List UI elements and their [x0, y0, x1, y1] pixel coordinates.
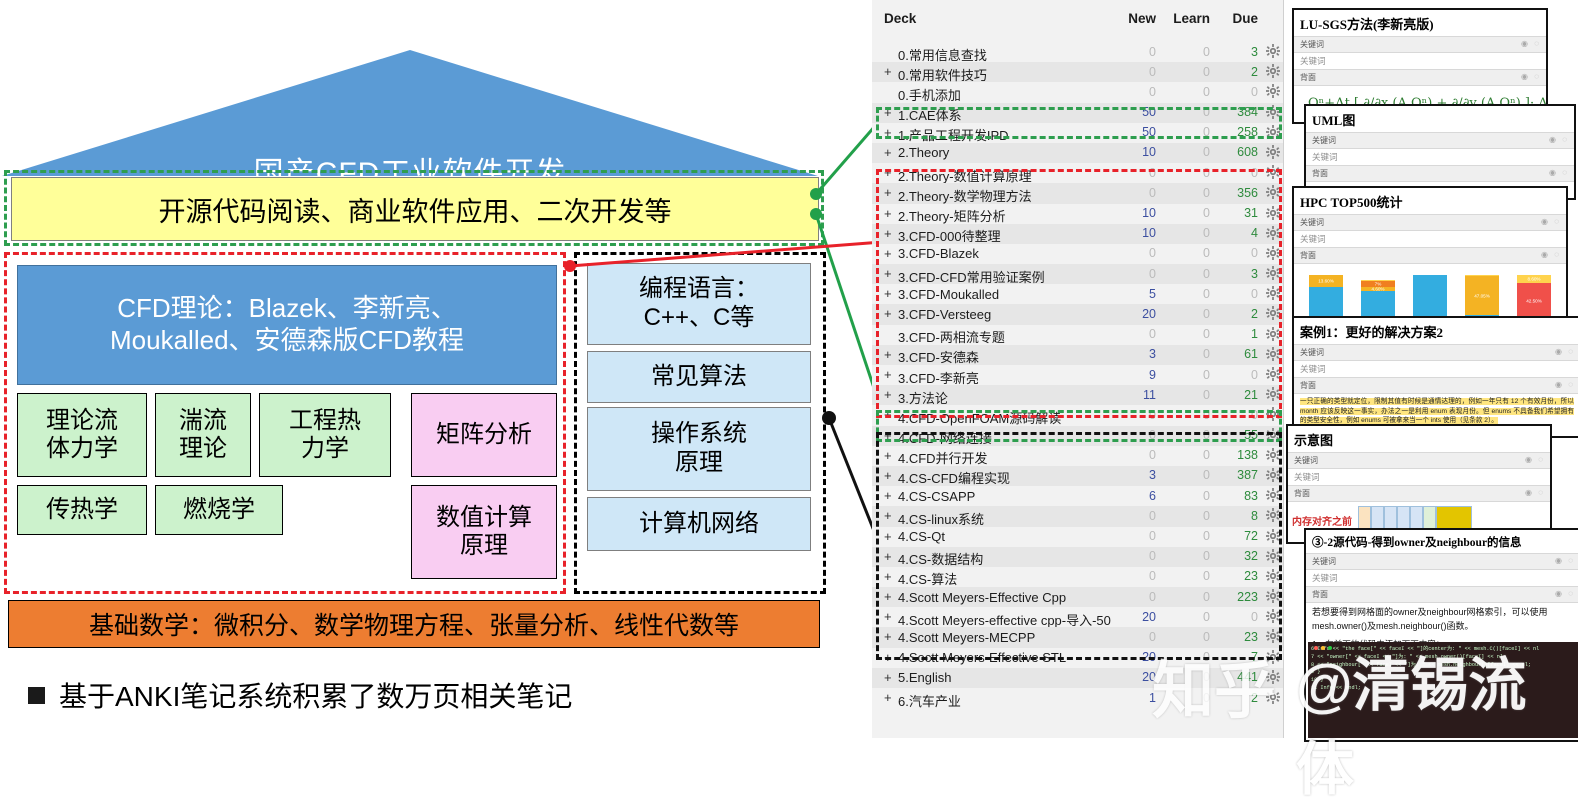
gear-icon[interactable] — [1266, 44, 1280, 58]
deck-row[interactable]: +3.CFD-CFD常用验证案例003 — [872, 264, 1284, 284]
eye-icon[interactable]: ◉ ◌ — [1555, 556, 1575, 565]
deck-row[interactable]: +4.CS-CFD编程实现30387 — [872, 466, 1284, 486]
deck-row[interactable]: +1.产品工程开发IPD500258 — [872, 123, 1284, 143]
deck-expander[interactable]: + — [884, 226, 894, 241]
window-dots-icon — [1314, 646, 1335, 654]
deck-new-count: 0 — [1112, 509, 1156, 523]
card-field-value: 关键词 — [1294, 361, 1578, 377]
note-card-case1[interactable]: 案例1：更好的解决方案2 关键词 ◉ ◌ 关键词 背面 ◉ ◌ 一只正确的类型就… — [1292, 316, 1578, 438]
programming-label: 编程语言：C++、C等 — [639, 275, 759, 333]
deck-learn-count: 0 — [1160, 569, 1210, 583]
deck-expander[interactable]: + — [884, 246, 894, 261]
gear-icon[interactable] — [1266, 529, 1280, 543]
deck-expander[interactable]: + — [884, 629, 894, 644]
deck-new-count: 0 — [1112, 327, 1156, 341]
subject-box-heat-transfer: 传热学 — [17, 485, 147, 535]
deck-row[interactable]: +4.Soctt Meyers-Effective STL2007 — [872, 648, 1284, 668]
deck-learn-count: 0 — [1160, 307, 1210, 321]
card-paragraph-text: 若想要得到网格面的owner及neighbour网格索引，可以使用mesh.ow… — [1312, 606, 1574, 633]
column-header-learn[interactable]: Learn — [1160, 11, 1210, 26]
gear-icon[interactable] — [1266, 387, 1280, 401]
deck-row[interactable]: +3.方法论11021 — [872, 385, 1284, 405]
deck-name[interactable]: 3.CFD-Moukalled — [898, 287, 999, 302]
deck-expander[interactable]: + — [884, 125, 894, 140]
deck-new-count: 10 — [1112, 145, 1156, 159]
deck-row[interactable]: +4.CFD-OpenFOAM源码解读000 — [872, 405, 1284, 425]
gear-icon[interactable] — [1266, 327, 1280, 341]
deck-name[interactable]: 3.CFD-000待整理 — [898, 226, 1001, 245]
card-title: UML图 — [1306, 106, 1574, 132]
deck-new-count: 3 — [1112, 468, 1156, 482]
deck-row[interactable]: +4.CS-linux系统008 — [872, 506, 1284, 526]
deck-new-count: 10 — [1112, 226, 1156, 240]
gear-icon[interactable] — [1266, 629, 1280, 643]
deck-due-count: 3 — [1216, 267, 1258, 281]
deck-learn-count: 0 — [1160, 186, 1210, 200]
deck-due-count: 21 — [1216, 388, 1258, 402]
deck-name[interactable]: 4.CS-数据结构 — [898, 549, 983, 568]
deck-row[interactable]: +3.CFD-李新亮900 — [872, 365, 1284, 385]
gear-icon[interactable] — [1266, 145, 1280, 159]
subject-label: 工程热力学 — [289, 407, 361, 462]
card-title: LU-SGS方法(李新亮版) — [1294, 10, 1546, 36]
deck-expander[interactable]: + — [884, 609, 894, 624]
deck-row[interactable]: +6.汽车产业102 — [872, 688, 1284, 708]
deck-row[interactable]: +2.Theory100608 — [872, 143, 1284, 163]
deck-due-count: 23 — [1216, 569, 1258, 583]
deck-row[interactable]: +4.Scott Meyers-MECPP0023 — [872, 627, 1284, 647]
gear-icon[interactable] — [1266, 650, 1280, 664]
deck-due-count: 2 — [1216, 65, 1258, 79]
note-card-source-owner-neighbour[interactable]: ③-2源代码-得到owner及neighbour的信息 关键词 ◉ ◌ 关键词 … — [1304, 528, 1578, 742]
deck-expander[interactable]: + — [884, 64, 894, 79]
card-field-label: 关键词 ◉ ◌ — [1288, 452, 1550, 469]
deck-expander[interactable]: + — [884, 468, 894, 483]
subject-box-numerical-methods: 数值计算原理 — [411, 485, 557, 579]
deck-expander[interactable]: + — [884, 105, 894, 120]
deck-due-count: 8 — [1216, 509, 1258, 523]
deck-name[interactable]: 0.手机添加 — [898, 85, 961, 104]
deck-learn-count: 0 — [1160, 590, 1210, 604]
card-back-label: 背面 ◉ ◌ — [1306, 165, 1574, 182]
field-label-text: 关键词 — [1300, 348, 1324, 357]
deck-new-count: 20 — [1112, 650, 1156, 664]
card-field-value: 关键词 — [1294, 53, 1546, 69]
deck-new-count: 0 — [1112, 246, 1156, 260]
deck-learn-count: 0 — [1160, 650, 1210, 664]
gear-icon[interactable] — [1266, 549, 1280, 563]
bar-value-label: 8.60% — [1517, 276, 1551, 281]
gear-icon[interactable] — [1266, 448, 1280, 462]
subject-label: 湍流理论 — [179, 407, 227, 462]
eye-icon[interactable]: ◉ ◌ — [1521, 72, 1541, 81]
memory-label: 内存对齐之前 — [1292, 513, 1352, 528]
eye-icon[interactable]: ◉ ◌ — [1549, 135, 1569, 144]
deck-new-count: 0 — [1112, 65, 1156, 79]
opensource-bar: 开源代码阅读、商业软件应用、二次开发等 — [11, 177, 819, 241]
deck-expander[interactable]: + — [884, 145, 894, 160]
deck-new-count: 5 — [1112, 287, 1156, 301]
programming-box-language: 编程语言：C++、C等 — [587, 263, 811, 345]
deck-row[interactable]: +4.CS-Qt0072 — [872, 527, 1284, 547]
gear-icon[interactable] — [1266, 347, 1280, 361]
deck-due-count: 0 — [1216, 408, 1258, 422]
deck-new-count: 0 — [1112, 630, 1156, 644]
gear-icon[interactable] — [1266, 105, 1280, 119]
deck-learn-count: 0 — [1160, 529, 1210, 543]
column-header-deck[interactable]: Deck — [884, 11, 916, 26]
anki-note-cards-stack: LU-SGS方法(李新亮版) 关键词 ◉ ◌ 关键词 背面 ◉ ◌ Qⁿ+Δt … — [1286, 0, 1578, 738]
gear-icon[interactable] — [1266, 246, 1280, 260]
card-title: 示意图 — [1288, 426, 1550, 452]
deck-learn-count: 0 — [1160, 347, 1210, 361]
column-header-new[interactable]: New — [1112, 11, 1156, 26]
deck-due-count: 31 — [1216, 206, 1258, 220]
deck-learn-count: 0 — [1160, 327, 1210, 341]
eye-icon[interactable]: ◉ ◌ — [1555, 380, 1575, 389]
deck-new-count: 0 — [1112, 428, 1156, 442]
deck-expander[interactable]: + — [884, 650, 894, 665]
deck-new-count: 20 — [1112, 610, 1156, 624]
bullet-square-icon — [28, 687, 45, 704]
deck-due-count: 0 — [1216, 246, 1258, 260]
deck-name[interactable]: 3.CFD-Versteeg — [898, 307, 991, 322]
gear-icon[interactable] — [1266, 589, 1280, 603]
deck-learn-count: 0 — [1160, 145, 1210, 159]
deck-due-count: 83 — [1216, 489, 1258, 503]
deck-learn-count: 0 — [1160, 267, 1210, 281]
note-card-schematic[interactable]: 示意图 关键词 ◉ ◌ 关键词 背面 ◉ ◌ 内存对齐之前 — [1286, 424, 1552, 544]
subject-label: 传热学 — [46, 496, 118, 524]
deck-new-count: 9 — [1112, 368, 1156, 382]
deck-row[interactable]: +2.Theory-矩阵分析10031 — [872, 204, 1284, 224]
deck-table-header: Deck New Learn Due — [872, 8, 1284, 34]
deck-name[interactable]: 1.CAE体系 — [898, 105, 962, 124]
deck-due-count: 72 — [1216, 529, 1258, 543]
bar-segment: 8.60% — [1517, 275, 1551, 282]
card-field-label: 关键词 ◉ ◌ — [1294, 214, 1566, 231]
deck-row[interactable]: +4.CFD并行开发00138 — [872, 446, 1284, 466]
deck-name[interactable]: 4.CS-Qt — [898, 529, 945, 544]
subject-label: 矩阵分析 — [436, 421, 532, 449]
roof-shape: 国产CFD工业软件开发 — [0, 48, 820, 178]
cfd-theory-label: CFD理论：Blazek、李新亮、Moukalled、安德森版CFD教程 — [110, 293, 464, 356]
eye-icon[interactable]: ◉ ◌ — [1555, 589, 1575, 598]
deck-due-count: 138 — [1216, 448, 1258, 462]
deck-name[interactable]: 4.CFD-网络连接 — [898, 428, 992, 447]
deck-expander[interactable]: + — [884, 367, 894, 382]
deck-row[interactable]: +4.CS-CSAPP6083 — [872, 486, 1284, 506]
deck-row[interactable]: +4.CS-算法0023 — [872, 567, 1284, 587]
deck-learn-count: 0 — [1160, 287, 1210, 301]
deck-due-count: 4 — [1216, 226, 1258, 240]
deck-row[interactable]: +4.CS-数据结构0032 — [872, 547, 1284, 567]
anki-footnote: 基于ANKI笔记系统积累了数万页相关笔记 — [28, 672, 828, 718]
deck-due-count: 0 — [1216, 85, 1258, 99]
card-back-label: 背面 ◉ ◌ — [1288, 485, 1550, 502]
eye-icon[interactable]: ◉ ◌ — [1555, 347, 1575, 356]
deck-row[interactable]: +1.CAE体系500384 — [872, 103, 1284, 123]
card-field-label: 关键词 ◉ ◌ — [1294, 36, 1546, 53]
deck-new-count: 0 — [1112, 408, 1156, 422]
deck-learn-count: 0 — [1160, 368, 1210, 382]
deck-expander[interactable]: + — [884, 165, 894, 180]
deck-name[interactable]: 2.Theory-数学物理方法 — [898, 186, 1032, 205]
gear-icon[interactable] — [1266, 185, 1280, 199]
anki-footnote-label: 基于ANKI笔记系统积累了数万页相关笔记 — [59, 675, 572, 715]
deck-due-count: 3 — [1216, 45, 1258, 59]
deck-expander[interactable]: + — [884, 185, 894, 200]
deck-name[interactable]: 2.Theory — [898, 145, 949, 160]
card-field-label: 关键词 ◉ ◌ — [1306, 132, 1574, 149]
card-title: HPC TOP500统计 — [1294, 188, 1566, 214]
back-label-text: 背面 — [1300, 73, 1316, 82]
deck-row[interactable]: 0.手机添加000 — [872, 82, 1284, 102]
deck-new-count: 10 — [1112, 206, 1156, 220]
deck-expander[interactable]: + — [884, 549, 894, 564]
programming-box-algorithms: 常见算法 — [587, 351, 811, 403]
gear-icon[interactable] — [1266, 407, 1280, 421]
gear-icon[interactable] — [1266, 84, 1280, 98]
gear-icon[interactable] — [1266, 428, 1280, 442]
deck-name[interactable]: 3.CFD-李新亮 — [898, 368, 979, 387]
deck-new-count: 0 — [1112, 590, 1156, 604]
deck-learn-count: 0 — [1160, 549, 1210, 563]
deck-row[interactable]: 3.CFD-两相流专题001 — [872, 325, 1284, 345]
gear-icon[interactable] — [1266, 206, 1280, 220]
card-title: ③-2源代码-得到owner及neighbour的信息 — [1306, 530, 1578, 553]
deck-learn-count: 0 — [1160, 670, 1210, 684]
deck-new-count: 0 — [1112, 267, 1156, 281]
deck-expander[interactable]: + — [884, 508, 894, 523]
deck-name[interactable]: 4.CFD并行开发 — [898, 448, 988, 467]
deck-expander[interactable]: + — [884, 569, 894, 584]
eye-icon[interactable]: ◉ ◌ — [1549, 168, 1569, 177]
eye-icon[interactable]: ◉ ◌ — [1541, 250, 1561, 259]
gear-icon[interactable] — [1266, 165, 1280, 179]
bar-value-label: 47.05% — [1465, 293, 1499, 298]
programming-label: 常见算法 — [651, 363, 747, 392]
eye-icon[interactable]: ◉ ◌ — [1541, 217, 1561, 226]
field-label-text: 关键词 — [1294, 456, 1318, 465]
deck-expander[interactable]: + — [884, 529, 894, 544]
subject-box-matrix-analysis: 矩阵分析 — [411, 393, 557, 477]
deck-name[interactable]: 4.Scott Meyers-effective cpp-导入-50 — [898, 610, 1111, 629]
deck-row[interactable]: +2.Theory-数值计算原理000 — [872, 163, 1284, 183]
card-back-label: 背面 ◉ ◌ — [1294, 69, 1546, 86]
field-label-text: 关键词 — [1300, 40, 1324, 49]
deck-due-count: 608 — [1216, 145, 1258, 159]
deck-expander[interactable]: + — [884, 387, 894, 402]
deck-new-count: 20 — [1112, 670, 1156, 684]
deck-expander[interactable]: + — [884, 670, 894, 685]
card-back-label: 背面 ◉ ◌ — [1306, 586, 1578, 603]
field-label-text: 关键词 — [1300, 218, 1324, 227]
deck-due-count: 32 — [1216, 549, 1258, 563]
subject-label: 数值计算原理 — [436, 504, 532, 559]
deck-learn-count: 0 — [1160, 630, 1210, 644]
programming-box-os: 操作系统原理 — [587, 407, 811, 491]
deck-row[interactable]: +3.CFD-Versteeg2002 — [872, 304, 1284, 324]
gear-icon[interactable] — [1266, 64, 1280, 78]
gear-icon[interactable] — [1266, 508, 1280, 522]
bar-segment: 13.60% — [1309, 275, 1343, 287]
deck-learn-count: 0 — [1160, 125, 1210, 139]
deck-row[interactable]: +3.CFD-安德森3061 — [872, 345, 1284, 365]
deck-due-count: 356 — [1216, 186, 1258, 200]
deck-name[interactable]: 5.English — [898, 670, 951, 685]
subject-label: 理论流体力学 — [46, 407, 118, 462]
deck-name[interactable]: 3.CFD-Blazek — [898, 246, 979, 261]
deck-learn-count: 0 — [1160, 448, 1210, 462]
deck-due-count: 7 — [1216, 650, 1258, 664]
deck-row[interactable]: +3.CFD-Blazek000 — [872, 244, 1284, 264]
bar-segment: 42.50% — [1517, 283, 1551, 319]
gear-icon[interactable] — [1266, 690, 1280, 704]
back-label-text: 背面 — [1312, 169, 1328, 178]
deck-learn-count: 0 — [1160, 166, 1210, 180]
deck-name[interactable]: 1.产品工程开发IPD — [898, 125, 1009, 144]
deck-learn-count: 0 — [1160, 105, 1210, 119]
deck-due-count: 0 — [1216, 166, 1258, 180]
card-field-value: 关键词 — [1306, 149, 1574, 165]
card-back-label: 背面 ◉ ◌ — [1294, 377, 1578, 394]
gear-icon[interactable] — [1266, 670, 1280, 684]
deck-new-count: 0 — [1112, 85, 1156, 99]
deck-row[interactable]: +5.English200441 — [872, 668, 1284, 688]
code-line: 10 } — [1311, 677, 1575, 685]
deck-due-count: 384 — [1216, 105, 1258, 119]
deck-name[interactable]: 4.CS-CFD编程实现 — [898, 468, 1010, 487]
deck-expander[interactable]: + — [884, 206, 894, 221]
deck-due-count: 387 — [1216, 468, 1258, 482]
eye-icon[interactable]: ◉ ◌ — [1525, 488, 1545, 497]
gear-icon[interactable] — [1266, 367, 1280, 381]
deck-new-count: 50 — [1112, 105, 1156, 119]
code-line: 11 Info << endl; — [1311, 685, 1575, 693]
subject-box-combustion: 燃烧学 — [155, 485, 283, 535]
deck-expander[interactable]: + — [884, 407, 894, 422]
deck-name[interactable]: 4.CS-CSAPP — [898, 489, 975, 504]
deck-name[interactable]: 3.CFD-两相流专题 — [898, 327, 1005, 346]
deck-row[interactable]: +4.Scott Meyers-Effective Cpp00223 — [872, 587, 1284, 607]
deck-learn-count: 0 — [1160, 610, 1210, 624]
deck-name[interactable]: 2.Theory-数值计算原理 — [898, 166, 1032, 185]
deck-expander[interactable]: + — [884, 690, 894, 705]
deck-row[interactable]: 0.常用信息查找003 — [872, 42, 1284, 62]
deck-expander[interactable]: + — [884, 428, 894, 443]
gear-icon[interactable] — [1266, 286, 1280, 300]
code-line: 7 << "owner[" << faceI << "]为: " << mesh… — [1311, 654, 1575, 662]
deck-name[interactable]: 4.CS-linux系统 — [898, 509, 984, 528]
code-line: 6 Info << "the face[" << faceI << "]的cen… — [1311, 646, 1575, 654]
deck-learn-count: 0 — [1160, 509, 1210, 523]
gear-icon[interactable] — [1266, 306, 1280, 320]
deck-due-count: 441 — [1216, 670, 1258, 684]
deck-row[interactable]: +3.CFD-000待整理1004 — [872, 224, 1284, 244]
deck-row-list[interactable]: 0.常用信息查找003+0.常用软件技巧0020.手机添加000+1.CAE体系… — [872, 42, 1284, 708]
deck-expander[interactable]: + — [884, 347, 894, 362]
code-line: 9 } — [1311, 669, 1575, 677]
deck-row[interactable]: +4.Scott Meyers-effective cpp-导入-502000 — [872, 607, 1284, 627]
deck-name[interactable]: 3.CFD-安德森 — [898, 347, 979, 366]
deck-row[interactable]: +0.常用软件技巧002 — [872, 62, 1284, 82]
deck-learn-count: 0 — [1160, 206, 1210, 220]
column-header-due[interactable]: Due — [1216, 11, 1258, 26]
eye-icon[interactable]: ◉ ◌ — [1521, 39, 1541, 48]
deck-name[interactable]: 3.CFD-CFD常用验证案例 — [898, 267, 1045, 286]
deck-name[interactable]: 6.汽车产业 — [898, 691, 961, 710]
cfd-theory-box: CFD理论：Blazek、李新亮、Moukalled、安德森版CFD教程 — [17, 265, 557, 385]
card-field-label: 关键词 ◉ ◌ — [1306, 553, 1578, 570]
deck-due-count: 23 — [1216, 630, 1258, 644]
programming-box-networks: 计算机网络 — [587, 497, 811, 551]
deck-learn-count: 0 — [1160, 468, 1210, 482]
deck-name[interactable]: 0.常用信息查找 — [898, 45, 987, 64]
deck-name[interactable]: 4.Scott Meyers-MECPP — [898, 630, 1035, 645]
deck-due-count: 2 — [1216, 307, 1258, 321]
deck-due-count: 55 — [1216, 428, 1258, 442]
deck-expander[interactable]: + — [884, 306, 894, 321]
deck-row[interactable]: +3.CFD-Moukalled500 — [872, 284, 1284, 304]
deck-name[interactable]: 4.Soctt Meyers-Effective STL — [898, 650, 1066, 665]
deck-learn-count: 0 — [1160, 691, 1210, 705]
card-paragraph-text: 一只正确的类型就定位，限制其值有时候是通情达理的，例如一年只有 12 个有效月份… — [1300, 398, 1574, 424]
deck-row[interactable]: +2.Theory-数学物理方法00356 — [872, 183, 1284, 203]
gear-icon[interactable] — [1266, 569, 1280, 583]
deck-new-count: 0 — [1112, 166, 1156, 180]
deck-due-count: 258 — [1216, 125, 1258, 139]
deck-new-count: 11 — [1112, 388, 1156, 402]
deck-name[interactable]: 0.常用软件技巧 — [898, 65, 987, 84]
deck-expander[interactable]: + — [884, 266, 894, 281]
bar-value-label: 42.50% — [1517, 298, 1551, 303]
deck-new-count: 0 — [1112, 569, 1156, 583]
deck-name[interactable]: 2.Theory-矩阵分析 — [898, 206, 1006, 225]
deck-learn-count: 0 — [1160, 65, 1210, 79]
deck-name[interactable]: 4.CS-算法 — [898, 569, 957, 588]
deck-due-count: 61 — [1216, 347, 1258, 361]
gear-icon[interactable] — [1266, 125, 1280, 139]
gear-icon[interactable] — [1266, 468, 1280, 482]
gear-icon[interactable] — [1266, 609, 1280, 623]
card-field-value: 关键词 — [1306, 570, 1578, 586]
back-label-text: 背面 — [1312, 590, 1328, 599]
deck-due-count: 0 — [1216, 368, 1258, 382]
deck-learn-count: 0 — [1160, 408, 1210, 422]
subject-label: 燃烧学 — [183, 496, 255, 524]
programming-black-dashed-group: 编程语言：C++、C等 常见算法 操作系统原理 计算机网络 — [574, 252, 826, 594]
deck-name[interactable]: 3.方法论 — [898, 388, 948, 407]
deck-name[interactable]: 4.CFD-OpenFOAM源码解读 — [898, 408, 1061, 427]
gear-icon[interactable] — [1266, 266, 1280, 280]
deck-expander[interactable]: + — [884, 488, 894, 503]
deck-name[interactable]: 4.Scott Meyers-Effective Cpp — [898, 590, 1066, 605]
gear-icon[interactable] — [1266, 226, 1280, 240]
deck-expander[interactable]: + — [884, 589, 894, 604]
subject-box-thermodynamics: 工程热力学 — [259, 393, 391, 477]
card-field-value: 关键词 — [1294, 231, 1566, 247]
deck-expander[interactable]: + — [884, 286, 894, 301]
code-block: 6 Info << "the face[" << faceI << "]的cen… — [1308, 642, 1578, 738]
eye-icon[interactable]: ◉ ◌ — [1525, 455, 1545, 464]
gear-icon[interactable] — [1266, 488, 1280, 502]
deck-expander[interactable]: + — [884, 448, 894, 463]
deck-due-count: 0 — [1216, 610, 1258, 624]
anki-deck-browser[interactable]: Deck New Learn Due 0.常用信息查找003+0.常用软件技巧0… — [872, 0, 1284, 738]
deck-row[interactable]: +4.CFD-网络连接0055 — [872, 426, 1284, 446]
card-field-value: 关键词 — [1288, 469, 1550, 485]
